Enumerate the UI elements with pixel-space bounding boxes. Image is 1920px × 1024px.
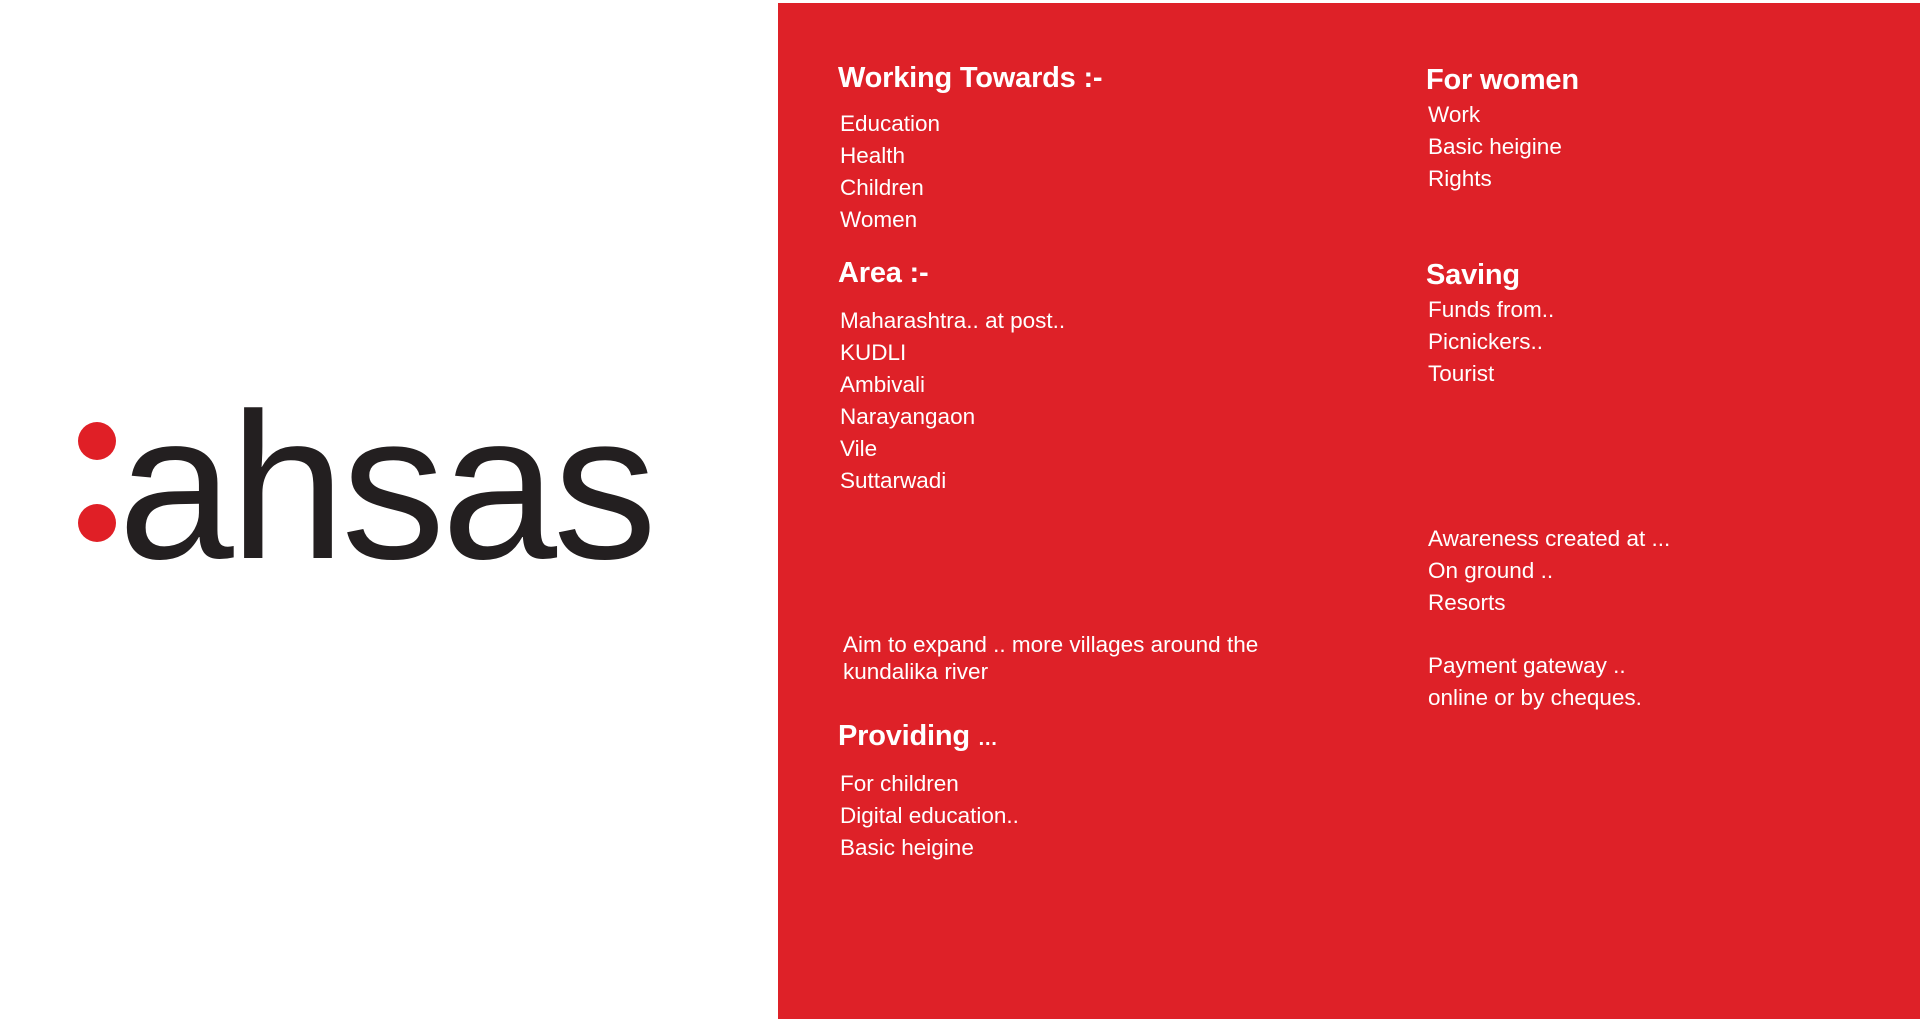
list-item: Resorts — [1428, 587, 1670, 619]
providing-heading-label: Providing — [838, 720, 970, 752]
section-saving: Saving Funds from.. Picnickers.. Tourist — [1428, 260, 1554, 390]
ahsas-logo: ahsas — [78, 400, 653, 570]
list-item: Picnickers.. — [1428, 326, 1554, 358]
list-item: Narayangaon — [840, 401, 1065, 433]
list-item: KUDLI — [840, 337, 1065, 369]
logo-panel: ahsas — [0, 0, 778, 1024]
list-item: Rights — [1428, 163, 1581, 195]
list-item: For children — [840, 768, 1019, 800]
list-item: Ambivali — [840, 369, 1065, 401]
list-item: Suttarwadi — [840, 465, 1065, 497]
list-item: Health — [840, 140, 1104, 172]
area-heading: Area :- — [838, 258, 1063, 288]
section-providing: Providing … For children Digital educati… — [840, 721, 1019, 864]
list-item: Funds from.. — [1428, 294, 1554, 326]
for-women-heading: For women — [1426, 65, 1579, 95]
list-item: Maharashtra.. at post.. — [840, 305, 1065, 337]
slide-canvas: ahsas Working Towards :- Education Healt… — [0, 0, 1920, 1024]
list-item: Children — [840, 172, 1104, 204]
colon-dot-bottom-icon — [78, 504, 116, 542]
list-item: Payment gateway .. — [1428, 650, 1642, 682]
list-item: Awareness created at ... — [1428, 523, 1670, 555]
list-item: Basic heigine — [1428, 131, 1581, 163]
list-item: online or by cheques. — [1428, 682, 1642, 714]
working-towards-heading: Working Towards :- — [838, 63, 1102, 93]
colon-dot-top-icon — [78, 422, 116, 460]
section-aim: Aim to expand .. more villages around th… — [840, 631, 1343, 685]
section-payment: Payment gateway .. online or by cheques. — [1428, 650, 1642, 714]
providing-heading: Providing … — [838, 721, 1017, 751]
saving-heading: Saving — [1426, 260, 1552, 290]
content-panel: Working Towards :- Education Health Chil… — [778, 3, 1920, 1019]
providing-heading-ellipsis: … — [978, 728, 998, 750]
list-item: Work — [1428, 99, 1581, 131]
logo-wordmark: ahsas — [118, 400, 653, 575]
list-item: On ground .. — [1428, 555, 1670, 587]
section-for-women: For women Work Basic heigine Rights — [1428, 65, 1581, 195]
list-item: Women — [840, 204, 1104, 236]
list-item: Digital education.. — [840, 800, 1019, 832]
section-area: Area :- Maharashtra.. at post.. KUDLI Am… — [840, 258, 1065, 497]
section-awareness: Awareness created at ... On ground .. Re… — [1428, 523, 1670, 619]
list-item: Basic heigine — [840, 832, 1019, 864]
aim-paragraph: Aim to expand .. more villages around th… — [840, 631, 1343, 685]
section-working-towards: Working Towards :- Education Health Chil… — [840, 63, 1104, 236]
list-item: Education — [840, 108, 1104, 140]
list-item: Vile — [840, 433, 1065, 465]
colon-dots-icon — [78, 422, 122, 582]
list-item: Tourist — [1428, 358, 1554, 390]
